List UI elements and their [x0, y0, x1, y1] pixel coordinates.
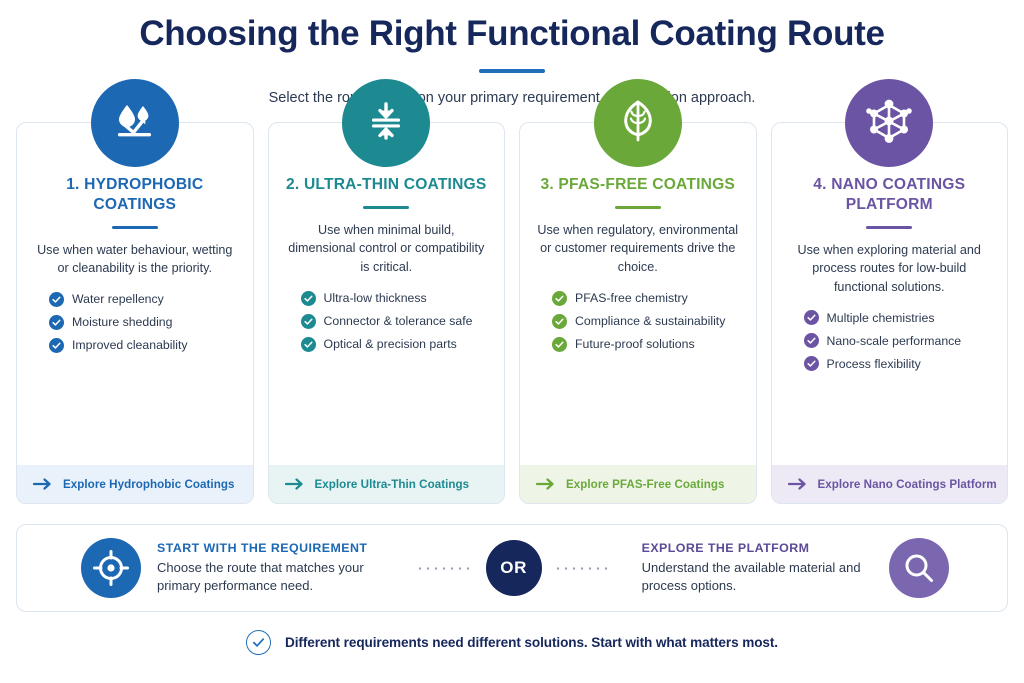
card-benefit-list: Multiple chemistries Nano-scale performa…	[784, 310, 996, 371]
list-item: Future-proof solutions	[552, 337, 740, 352]
list-item: PFAS-free chemistry	[552, 291, 740, 306]
card-underline	[615, 206, 661, 209]
panel-right-option[interactable]: EXPLORE THE PLATFORM Understand the avai…	[624, 541, 889, 596]
check-circle-icon	[301, 337, 316, 352]
panel-right-body: Understand the available material and pr…	[642, 559, 889, 596]
check-circle-icon	[301, 314, 316, 329]
list-item: Nano-scale performance	[804, 333, 992, 348]
molecule-nano-icon	[863, 95, 915, 152]
page-title: Choosing the Right Functional Coating Ro…	[0, 14, 1024, 53]
check-circle-icon	[552, 337, 567, 352]
check-circle-icon	[552, 314, 567, 329]
list-item: Multiple chemistries	[804, 310, 992, 325]
card-benefit-list: PFAS-free chemistry Compliance & sustain…	[532, 291, 744, 352]
benefit-label: Moisture shedding	[72, 315, 172, 330]
route-card-ultra-thin[interactable]: 2. ULTRA-THIN COATINGS Use when minimal …	[268, 122, 506, 504]
route-card-pfas-free[interactable]: 3. PFAS-FREE COATINGS Use when regulator…	[519, 122, 757, 504]
card-title: 3. PFAS-FREE COATINGS	[532, 175, 744, 195]
arrow-right-icon	[285, 478, 305, 490]
decision-panel: START WITH THE REQUIREMENT Choose the ro…	[16, 524, 1008, 612]
dotted-connector-left	[416, 567, 474, 570]
list-item: Ultra-low thickness	[301, 291, 489, 306]
benefit-label: Connector & tolerance safe	[324, 314, 473, 329]
target-crosshair-icon	[81, 538, 141, 598]
card-benefit-list: Water repellency Moisture shedding Impro…	[29, 292, 241, 353]
magnifier-search-icon	[889, 538, 949, 598]
list-item: Connector & tolerance safe	[301, 314, 489, 329]
panel-left-kicker: START WITH THE REQUIREMENT	[157, 541, 404, 555]
or-badge: OR	[486, 540, 542, 596]
card-title: 2. ULTRA-THIN COATINGS	[281, 175, 493, 195]
card-underline	[866, 226, 912, 229]
card-underline	[112, 226, 158, 229]
card-description: Use when exploring material and process …	[784, 241, 996, 297]
check-circle-icon	[49, 292, 64, 307]
check-circle-icon	[49, 338, 64, 353]
infographic-page: Choosing the Right Functional Coating Ro…	[0, 0, 1024, 683]
check-circle-icon	[804, 333, 819, 348]
card-underline	[363, 206, 409, 209]
card-benefit-list: Ultra-low thickness Connector & toleranc…	[281, 291, 493, 352]
benefit-label: Process flexibility	[827, 357, 921, 372]
arrow-right-icon	[788, 478, 808, 490]
card-description: Use when regulatory, environmental or cu…	[532, 221, 744, 277]
list-item: Optical & precision parts	[301, 337, 489, 352]
card-description: Use when minimal build, dimensional cont…	[281, 221, 493, 277]
card-description: Use when water behaviour, wetting or cle…	[29, 241, 241, 278]
benefit-label: Future-proof solutions	[575, 337, 695, 352]
dotted-connector-right	[554, 567, 612, 570]
cta-label: Explore Hydrophobic Coatings	[63, 478, 234, 491]
route-card-hydrophobic[interactable]: 1. HYDROPHOBIC COATINGS Use when water b…	[16, 122, 254, 504]
explore-pfas-free-coatings-button[interactable]: Explore PFAS-Free Coatings	[520, 465, 756, 503]
list-item: Water repellency	[49, 292, 237, 307]
panel-right-icon-wrap	[889, 538, 1007, 598]
list-item: Compliance & sustainability	[552, 314, 740, 329]
check-circle-icon	[804, 356, 819, 371]
list-item: Moisture shedding	[49, 315, 237, 330]
check-circle-icon	[552, 291, 567, 306]
benefit-label: Ultra-low thickness	[324, 291, 427, 306]
title-underline	[479, 69, 545, 73]
benefit-label: PFAS-free chemistry	[575, 291, 688, 306]
arrow-right-icon	[536, 478, 556, 490]
leaf-icon	[613, 96, 663, 151]
list-item: Process flexibility	[804, 356, 992, 371]
card-icon-badge	[845, 79, 933, 167]
water-droplets-repellency-icon	[110, 96, 160, 151]
footer-text: Different requirements need different so…	[285, 635, 778, 650]
card-icon-badge	[342, 79, 430, 167]
cta-label: Explore PFAS-Free Coatings	[566, 478, 725, 491]
cta-label: Explore Ultra-Thin Coatings	[315, 478, 470, 491]
arrow-right-icon	[33, 478, 53, 490]
panel-left-text: START WITH THE REQUIREMENT Choose the ro…	[157, 541, 404, 596]
benefit-label: Optical & precision parts	[324, 337, 457, 352]
explore-ultra-thin-coatings-button[interactable]: Explore Ultra-Thin Coatings	[269, 465, 505, 503]
panel-right-kicker: EXPLORE THE PLATFORM	[642, 541, 889, 555]
panel-left-option[interactable]: START WITH THE REQUIREMENT Choose the ro…	[17, 538, 404, 598]
list-item: Improved cleanability	[49, 338, 237, 353]
benefit-label: Nano-scale performance	[827, 334, 962, 349]
route-card-nano-platform[interactable]: 4. NANO COATINGS PLATFORM Use when explo…	[771, 122, 1009, 504]
panel-left-body: Choose the route that matches your prima…	[157, 559, 404, 596]
cta-label: Explore Nano Coatings Platform	[818, 478, 997, 491]
check-circle-icon	[301, 291, 316, 306]
check-circle-icon	[804, 310, 819, 325]
card-icon-badge	[91, 79, 179, 167]
benefit-label: Improved cleanability	[72, 338, 188, 353]
card-title: 1. HYDROPHOBIC COATINGS	[29, 175, 241, 215]
card-icon-badge	[594, 79, 682, 167]
footer-note: Different requirements need different so…	[0, 630, 1024, 655]
thickness-arrows-icon	[362, 97, 410, 150]
panel-right-text: EXPLORE THE PLATFORM Understand the avai…	[642, 541, 889, 596]
check-circle-icon	[49, 315, 64, 330]
explore-hydrophobic-coatings-button[interactable]: Explore Hydrophobic Coatings	[17, 465, 253, 503]
explore-nano-coatings-platform-button[interactable]: Explore Nano Coatings Platform	[772, 465, 1008, 503]
route-cards-row: 1. HYDROPHOBIC COATINGS Use when water b…	[16, 122, 1008, 504]
card-title: 4. NANO COATINGS PLATFORM	[784, 175, 996, 215]
benefit-label: Compliance & sustainability	[575, 314, 725, 329]
benefit-label: Multiple chemistries	[827, 311, 935, 326]
benefit-label: Water repellency	[72, 292, 164, 307]
check-circle-icon	[246, 630, 271, 655]
